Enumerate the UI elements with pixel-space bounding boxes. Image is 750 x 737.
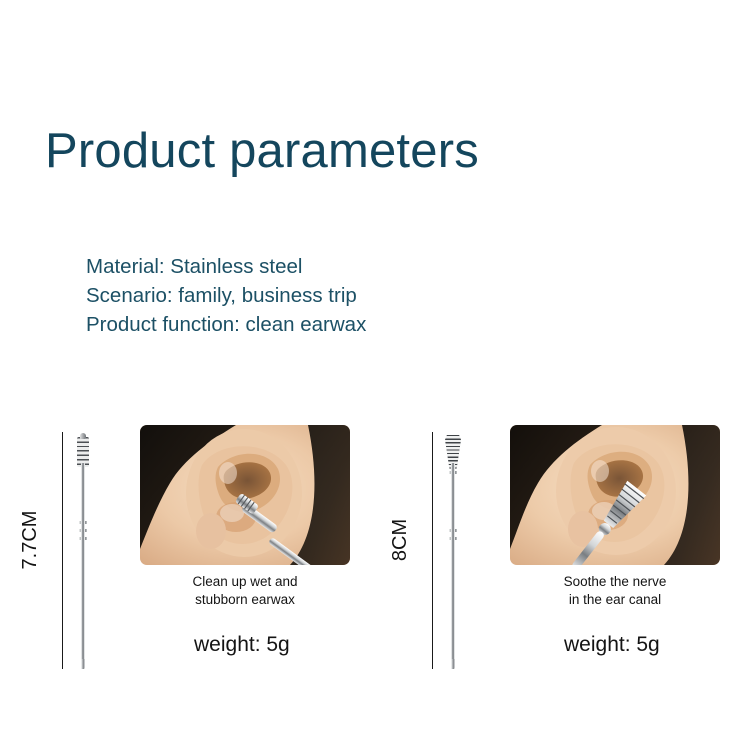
specification-list: Material: Stainless steel Scenario: fami… — [86, 252, 366, 339]
product-weight-spiral: weight: 5g — [564, 632, 660, 658]
caption-line-2: stubborn earwax — [140, 591, 350, 609]
caption-line-1: Soothe the nerve — [510, 573, 720, 591]
product-parameters-page: Product parameters Material: Stainless s… — [0, 0, 750, 737]
page-title: Product parameters — [45, 122, 479, 180]
product-caption-ribbed: Clean up wet and stubborn earwax — [140, 573, 350, 609]
caption-line-2: in the ear canal — [510, 591, 720, 609]
dimension-label: 8CM — [389, 460, 411, 620]
product-tool-spiral — [436, 433, 470, 669]
dimension-line — [62, 432, 63, 669]
tool-shaft — [81, 463, 85, 669]
product-weight-ribbed: weight: 5g — [194, 632, 290, 658]
caption-line-1: Clean up wet and — [140, 573, 350, 591]
product-photo-spiral — [510, 425, 720, 565]
product-photo-ribbed — [140, 425, 350, 565]
dimension-line — [432, 432, 433, 669]
product-caption-spiral: Soothe the nerve in the ear canal — [510, 573, 720, 609]
spec-function: Product function: clean earwax — [86, 310, 366, 339]
spec-scenario: Scenario: family, business trip — [86, 281, 366, 310]
spec-material: Material: Stainless steel — [86, 252, 366, 281]
product-tool-ribbed — [66, 433, 100, 669]
dimension-label: 7.7CM — [19, 460, 41, 620]
tool-shaft — [451, 463, 455, 669]
